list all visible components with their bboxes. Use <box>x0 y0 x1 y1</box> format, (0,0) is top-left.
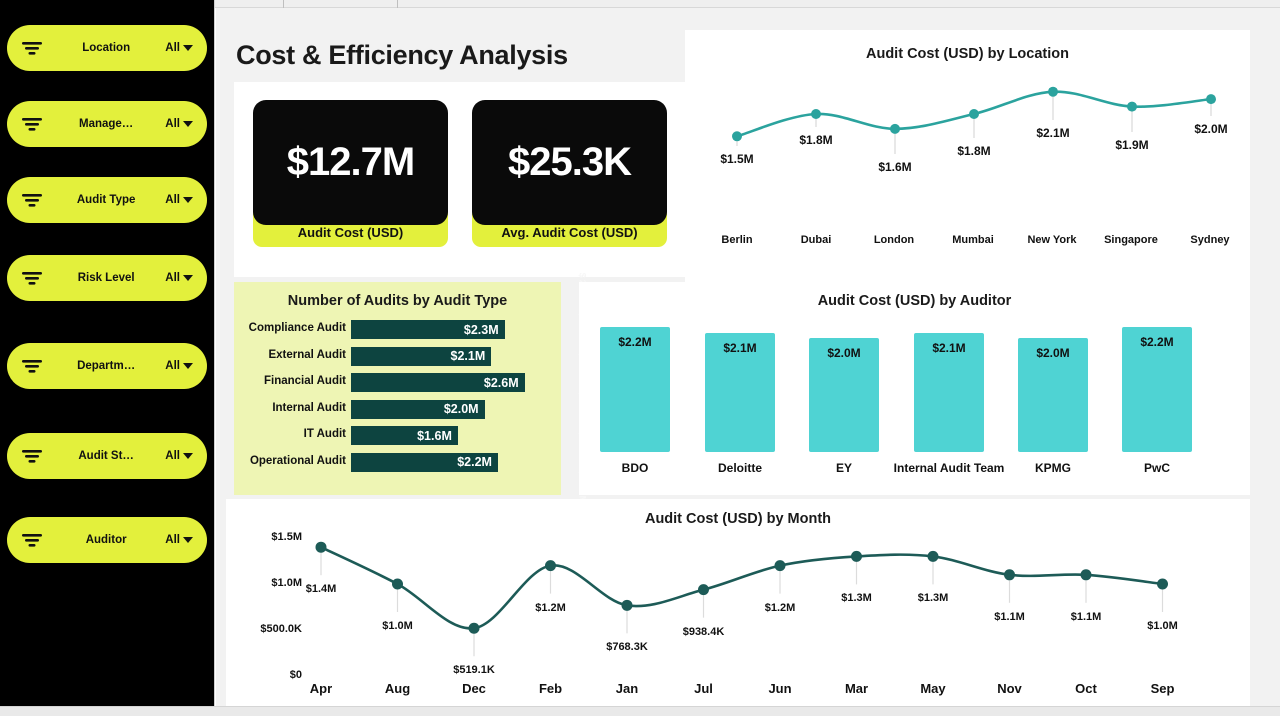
slicer-label: Risk Level <box>43 272 165 284</box>
audit-type-bar[interactable]: $2.3M <box>351 320 505 339</box>
auditor-bar-value: $2.1M <box>904 341 994 355</box>
slicer-value: All <box>165 534 180 546</box>
audit-type-category-label: Internal Audit <box>272 402 346 414</box>
filter-icon <box>21 448 43 464</box>
slicer-value: All <box>165 42 180 54</box>
chevron-down-icon[interactable] <box>183 121 193 127</box>
slicer-value: All <box>165 118 180 130</box>
slicer-value: All <box>165 360 180 372</box>
auditor-bar-value: $2.0M <box>1008 346 1098 360</box>
audit-type-bar[interactable]: $1.6M <box>351 426 458 445</box>
auditor-bar-value: $2.1M <box>695 341 785 355</box>
audit-type-bar-value: $2.1M <box>451 349 486 363</box>
month-category-label: Sep <box>1123 681 1203 696</box>
location-category-label: Berlin <box>692 234 782 246</box>
chart-title: Number of Audits by Audit Type <box>234 293 561 309</box>
sidebar-slicer-audit-status[interactable]: Audit St… All <box>7 433 207 479</box>
slicer-label: Audit St… <box>43 450 165 462</box>
location-category-label: Dubai <box>771 234 861 246</box>
kpi-value: $25.3K <box>508 140 631 185</box>
location-point-label: $1.6M <box>855 160 935 174</box>
auditor-bar-value: $2.0M <box>799 346 889 360</box>
audit-type-bar-value: $2.6M <box>484 376 519 390</box>
location-category-label: Mumbai <box>928 234 1018 246</box>
month-category-label: Mar <box>817 681 897 696</box>
month-category-label: May <box>893 681 973 696</box>
chevron-down-icon[interactable] <box>183 537 193 543</box>
page-title: Cost & Efficiency Analysis <box>236 40 568 71</box>
sidebar-slicer-management[interactable]: Manage… All <box>7 101 207 147</box>
filter-icon <box>21 116 43 132</box>
audit-type-category-label: Compliance Audit <box>249 322 346 334</box>
filter-icon <box>21 40 43 56</box>
audit-type-bar-value: $1.6M <box>417 429 452 443</box>
slicer-label: Location <box>43 42 165 54</box>
location-point-label: $2.0M <box>1171 122 1251 136</box>
audit-type-bar-row[interactable]: Internal Audit$2.0M <box>234 400 561 419</box>
auditor-category-label: PwC <box>1087 461 1227 475</box>
month-category-label: Oct <box>1046 681 1126 696</box>
sidebar-slicer-location[interactable]: Location All <box>7 25 207 71</box>
window-top-strip <box>215 0 1280 8</box>
month-point-label: $519.1K <box>429 664 519 676</box>
location-point-label: $2.1M <box>1013 126 1093 140</box>
sidebar-slicer-audit-type[interactable]: Audit Type All <box>7 177 207 223</box>
filter-icon <box>21 358 43 374</box>
location-category-label: Singapore <box>1086 234 1176 246</box>
filter-icon <box>21 532 43 548</box>
audit-type-bar-value: $2.2M <box>457 455 492 469</box>
chevron-down-icon[interactable] <box>183 363 193 369</box>
slicer-label: Auditor <box>43 534 165 546</box>
month-category-label: Feb <box>511 681 591 696</box>
filter-icon <box>21 192 43 208</box>
audit-type-bar-value: $2.3M <box>464 323 499 337</box>
month-point-label: $1.0M <box>1118 620 1208 632</box>
report-canvas: Cost & Efficiency Analysis Audit Cost (U… <box>216 8 1280 708</box>
slicer-value: All <box>165 272 180 284</box>
kpi-value-box: $25.3K <box>472 100 667 225</box>
kpi-panel: Audit Cost (USD) $12.7M Avg. Audit Cost … <box>234 82 692 277</box>
month-y-tick: $0 <box>226 669 302 681</box>
month-category-label: Jan <box>587 681 667 696</box>
month-category-label: Apr <box>281 681 361 696</box>
slicer-value: All <box>165 450 180 462</box>
sidebar-slicer-auditor[interactable]: Auditor All <box>7 517 207 563</box>
kpi-value-box: $12.7M <box>253 100 448 225</box>
filter-icon <box>21 270 43 286</box>
month-category-label: Jun <box>740 681 820 696</box>
audit-type-category-label: External Audit <box>268 349 346 361</box>
frame-tick <box>397 0 398 8</box>
chart-audit-cost-by-location[interactable]: Audit Cost (USD) by Location $1.5M$1.8M$… <box>685 30 1250 283</box>
chevron-down-icon[interactable] <box>183 453 193 459</box>
audit-type-bar-row[interactable]: Operational Audit$2.2M <box>234 453 561 472</box>
sidebar-slicer-risk-level[interactable]: Risk Level All <box>7 255 207 301</box>
slicer-value: All <box>165 194 180 206</box>
audit-type-bar[interactable]: $2.1M <box>351 347 491 366</box>
month-point-label: $938.4K <box>659 626 749 638</box>
audit-type-bar[interactable]: $2.6M <box>351 373 525 392</box>
slicer-label: Departm… <box>43 360 165 372</box>
location-point-label: $1.9M <box>1092 138 1172 152</box>
chevron-down-icon[interactable] <box>183 197 193 203</box>
audit-type-bar-row[interactable]: Compliance Audit$2.3M <box>234 320 561 339</box>
location-category-label: Sydney <box>1165 234 1255 246</box>
audit-type-bar[interactable]: $2.2M <box>351 453 498 472</box>
sidebar-slicer-department[interactable]: Departm… All <box>7 343 207 389</box>
audit-type-category-label: Financial Audit <box>264 375 346 387</box>
location-category-label: London <box>849 234 939 246</box>
month-point-label: $768.3K <box>582 641 672 653</box>
audit-type-bar-row[interactable]: IT Audit$1.6M <box>234 426 561 445</box>
chevron-down-icon[interactable] <box>183 45 193 51</box>
audit-type-bar-row[interactable]: Financial Audit$2.6M <box>234 373 561 392</box>
audit-type-category-label: IT Audit <box>304 428 346 440</box>
location-point-label: $1.8M <box>776 133 856 147</box>
chevron-down-icon[interactable] <box>183 275 193 281</box>
filter-sidebar: Location All Manage… All Audit Type All … <box>0 0 215 706</box>
kpi-label: Audit Cost (USD) <box>298 225 403 240</box>
window-bottom-strip <box>0 706 1280 716</box>
frame-tick <box>283 0 284 8</box>
month-y-tick: $500.0K <box>226 623 302 635</box>
month-point-label: $1.3M <box>888 592 978 604</box>
slicer-label: Manage… <box>43 118 165 130</box>
audit-type-bar[interactable]: $2.0M <box>351 400 485 419</box>
audit-type-bar-value: $2.0M <box>444 402 479 416</box>
month-category-label: Aug <box>358 681 438 696</box>
month-category-label: Nov <box>970 681 1050 696</box>
month-category-label: Dec <box>434 681 514 696</box>
chart-number-of-audits-by-audit-type[interactable]: Number of Audits by Audit Type Complianc… <box>234 282 561 495</box>
month-point-label: $1.0M <box>353 620 443 632</box>
chart-audit-cost-by-month[interactable]: Audit Cost (USD) by Month $1.5M$1.0M$500… <box>226 499 1250 708</box>
kpi-label: Avg. Audit Cost (USD) <box>501 225 637 240</box>
location-point-label: $1.8M <box>934 144 1014 158</box>
audit-type-bar-row[interactable]: External Audit$2.1M <box>234 347 561 366</box>
kpi-value: $12.7M <box>287 140 414 185</box>
month-y-tick: $1.5M <box>226 531 302 543</box>
month-point-label: $1.4M <box>276 583 366 595</box>
slicer-label: Audit Type <box>43 194 165 206</box>
kpi-card-avg-audit-cost[interactable]: Avg. Audit Cost (USD) $25.3K <box>472 100 667 260</box>
chart-audit-cost-by-auditor[interactable]: Audit Cost (USD) by Auditor $2.2MBDO$2.1… <box>579 282 1250 495</box>
auditor-bar-value: $2.2M <box>1112 335 1202 349</box>
location-category-label: New York <box>1007 234 1097 246</box>
kpi-card-audit-cost[interactable]: Audit Cost (USD) $12.7M <box>253 100 448 260</box>
audit-type-category-label: Operational Audit <box>250 455 346 467</box>
month-category-label: Jul <box>664 681 744 696</box>
chart-title: Audit Cost (USD) by Auditor <box>579 293 1250 309</box>
auditor-bar-value: $2.2M <box>590 335 680 349</box>
month-point-label: $1.2M <box>506 602 596 614</box>
location-point-label: $1.5M <box>697 152 777 166</box>
